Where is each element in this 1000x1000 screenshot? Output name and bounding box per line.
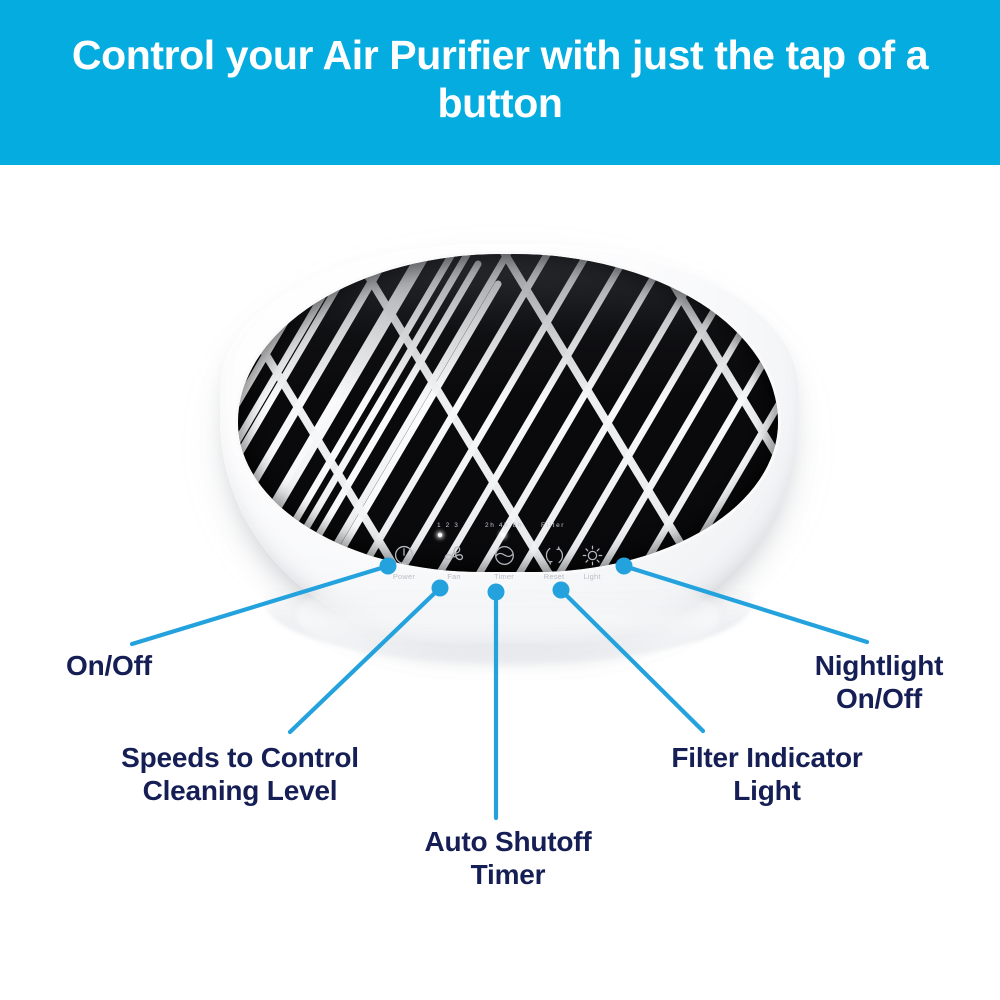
- callout-label-filter-indicator-light: Filter Indicator Light: [646, 742, 888, 808]
- callout-label-auto-shutoff-timer: Auto Shutoff Timer: [390, 826, 626, 892]
- leader-line-on-off: [132, 566, 388, 644]
- callout-dot-speeds[interactable]: [432, 580, 449, 597]
- callout-label-on-off: On/Off: [66, 650, 152, 683]
- callout-label-speeds: Speeds to Control Cleaning Level: [92, 742, 388, 808]
- screenshot-canvas: Control your Air Purifier with just the …: [0, 0, 1000, 1000]
- callout-dot-filter[interactable]: [553, 582, 570, 599]
- leader-line-filter: [561, 590, 703, 731]
- callout-dot-nightlight[interactable]: [616, 558, 633, 575]
- callout-label-nightlight-on-off: Nightlight On/Off: [790, 650, 968, 716]
- callout-dot-on-off[interactable]: [380, 558, 397, 575]
- leader-line-speeds: [290, 588, 440, 732]
- leader-line-nightlight: [624, 566, 867, 642]
- callout-dot-auto-shutoff[interactable]: [488, 584, 505, 601]
